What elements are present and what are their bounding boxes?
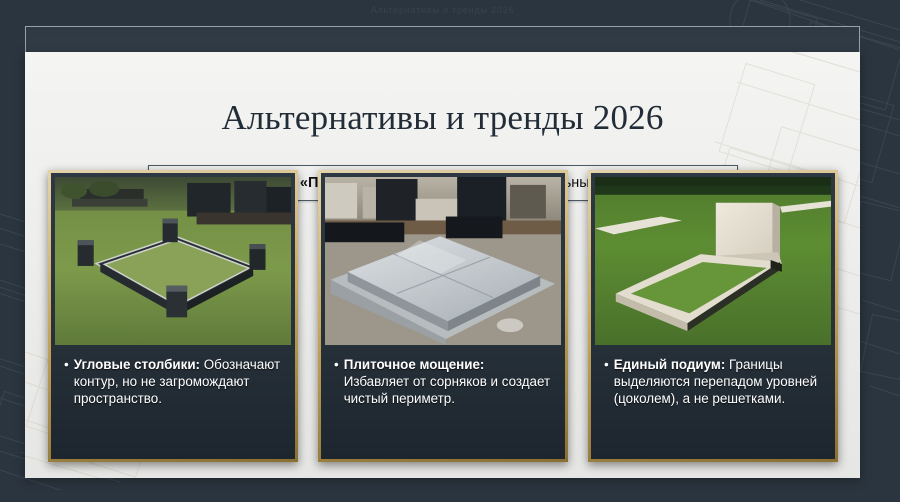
- tiled-paving-grave-photo: [325, 177, 561, 345]
- slide-panel: Альтернативы и тренды 2026 Концепция «Пр…: [25, 52, 860, 478]
- card-term: Плиточное мощение:: [344, 357, 485, 372]
- slide-stage: Альтернативы и тренды 2026 Альте: [0, 0, 900, 502]
- card-term: Угловые столбики:: [74, 357, 200, 372]
- trend-card-single-podium[interactable]: • Единый подиум: Границы выделяются пере…: [588, 170, 838, 462]
- card-caption-text: Единый подиум: Границы выделяются перепа…: [614, 356, 822, 407]
- trend-card-tiled-paving[interactable]: • Плиточное мощение: Избавляет от сорняк…: [318, 170, 568, 462]
- card-caption: • Угловые столбики: Обозначают контур, н…: [55, 345, 291, 413]
- page-title: Альтернативы и тренды 2026: [25, 100, 860, 135]
- slide-header-bar: Альтернативы и тренды 2026: [25, 26, 860, 52]
- card-caption-text: Угловые столбики: Обозначают контур, но …: [74, 356, 282, 407]
- bullet-icon: •: [64, 356, 69, 373]
- cards-row: • Угловые столбики: Обозначают контур, н…: [48, 170, 838, 462]
- single-podium-grave-photo: [595, 177, 831, 345]
- card-caption-text: Плиточное мощение: Избавляет от сорняков…: [344, 356, 552, 407]
- header-faint-caption: Альтернативы и тренды 2026: [26, 5, 859, 15]
- bullet-icon: •: [334, 356, 339, 373]
- trend-card-corner-posts[interactable]: • Угловые столбики: Обозначают контур, н…: [48, 170, 298, 462]
- card-term: Единый подиум:: [614, 357, 726, 372]
- corner-posts-grave-photo: [55, 177, 291, 345]
- card-caption: • Плиточное мощение: Избавляет от сорняк…: [325, 345, 561, 413]
- bullet-icon: •: [604, 356, 609, 373]
- card-body: Избавляет от сорняков и создает чистый п…: [344, 374, 550, 406]
- card-caption: • Единый подиум: Границы выделяются пере…: [595, 345, 831, 413]
